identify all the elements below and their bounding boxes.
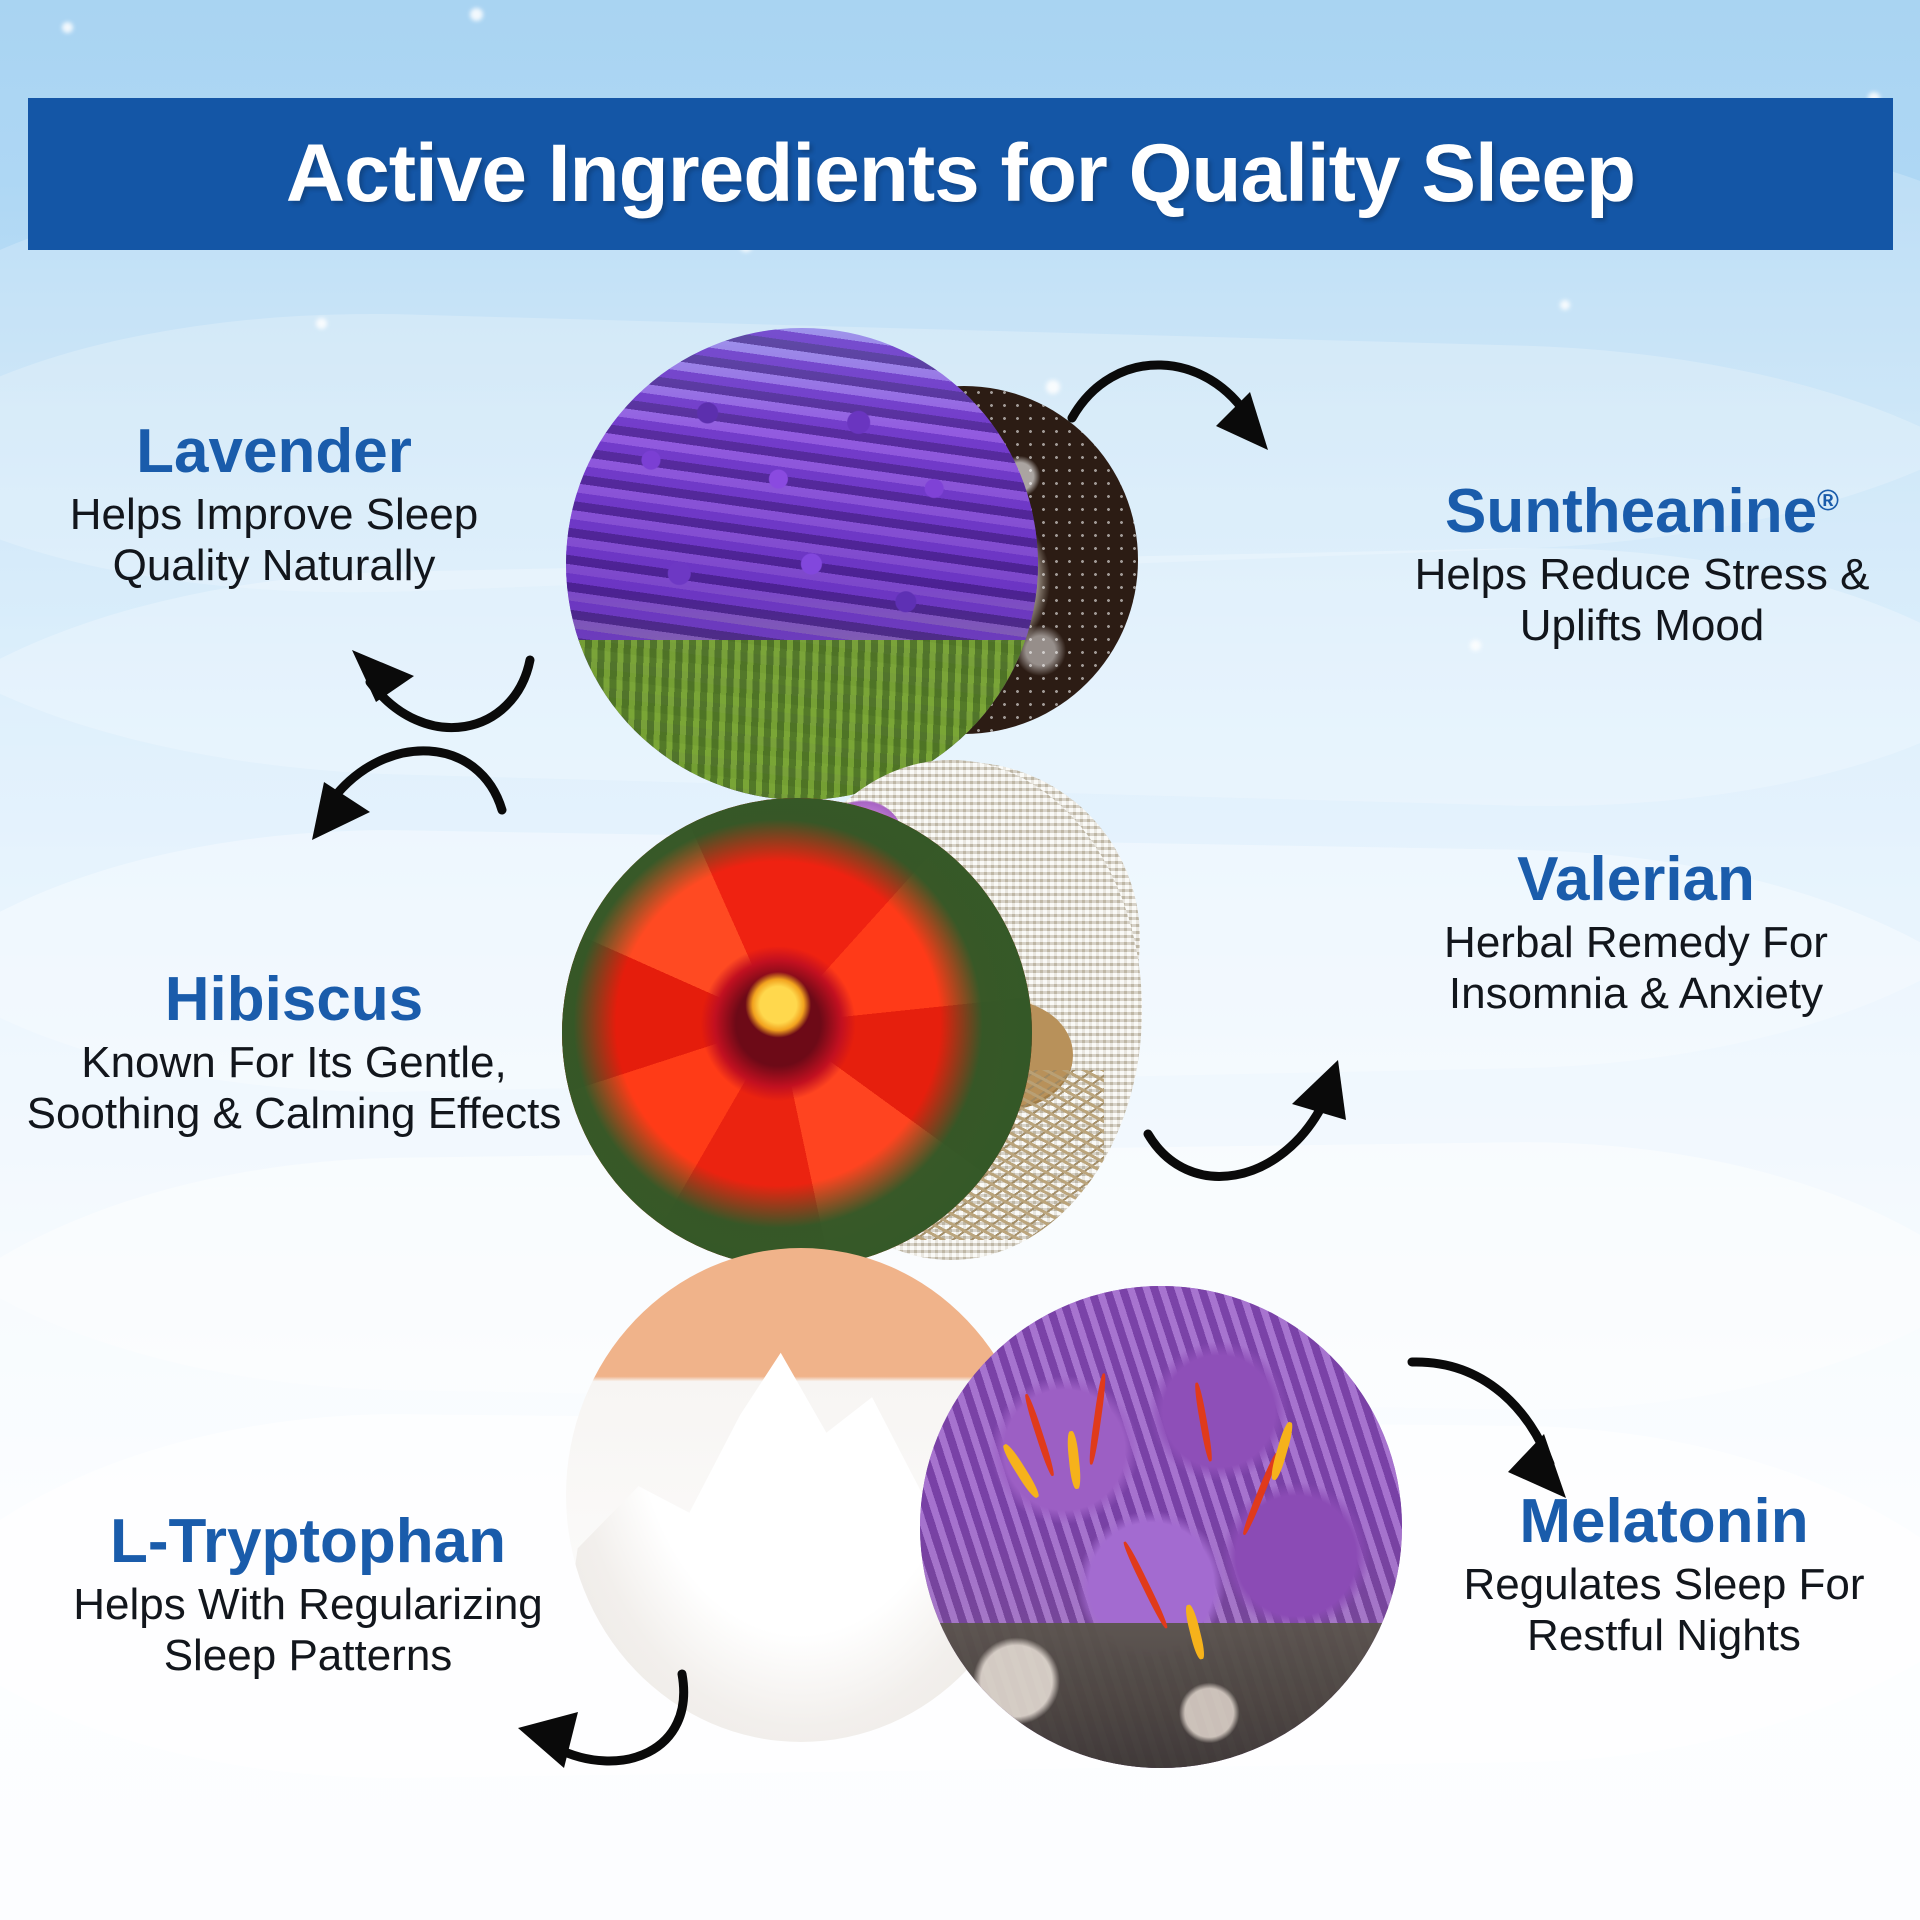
description-line-1: Helps Improve Sleep xyxy=(14,489,534,540)
arrow-to-valerian xyxy=(1130,1036,1360,1222)
sparkle-dot xyxy=(62,22,73,33)
arrow-to-suntheanine xyxy=(1056,334,1286,514)
sparkle-dot xyxy=(316,318,327,329)
description-line-2: Restful Nights xyxy=(1404,1610,1920,1661)
ingredient-description-lavender: Helps Improve Sleep Quality Naturally xyxy=(14,489,534,591)
sparkle-dot xyxy=(470,8,483,21)
ingredient-name-l-tryptophan: L-Tryptophan xyxy=(20,1510,596,1573)
description-line-2: Uplifts Mood xyxy=(1368,600,1916,651)
ingredient-block-suntheanine: Suntheanine® Helps Reduce Stress & Uplif… xyxy=(1368,480,1916,651)
arrow-to-l-tryptophan xyxy=(500,1640,750,1830)
melatonin-saffron-crocus-photo xyxy=(920,1286,1402,1768)
arrow-to-melatonin xyxy=(1398,1324,1628,1514)
ingredient-description-melatonin: Regulates Sleep For Restful Nights xyxy=(1404,1559,1920,1661)
description-line-1: Regulates Sleep For xyxy=(1404,1559,1920,1610)
ingredient-name-suntheanine: Suntheanine® xyxy=(1368,480,1916,543)
title-banner: Active Ingredients for Quality Sleep xyxy=(28,98,1893,250)
lavender-field-photo xyxy=(566,328,1038,800)
ingredient-name-lavender: Lavender xyxy=(14,420,534,483)
page-title: Active Ingredients for Quality Sleep xyxy=(286,127,1635,221)
description-line-1: Known For Its Gentle, xyxy=(0,1037,588,1088)
description-line-2: Quality Naturally xyxy=(14,540,534,591)
arrow-to-hibiscus xyxy=(290,716,530,896)
description-line-1: Helps With Regularizing xyxy=(20,1579,596,1630)
ingredient-block-lavender: Lavender Helps Improve Sleep Quality Nat… xyxy=(14,420,534,591)
ingredient-description-suntheanine: Helps Reduce Stress & Uplifts Mood xyxy=(1368,549,1916,651)
ingredient-description-hibiscus: Known For Its Gentle, Soothing & Calming… xyxy=(0,1037,588,1139)
hibiscus-flower-photo xyxy=(562,798,1032,1268)
ingredient-name-text: Suntheanine xyxy=(1445,477,1817,546)
sparkle-dot xyxy=(1560,300,1570,310)
description-line-1: Herbal Remedy For xyxy=(1358,917,1914,968)
ingredient-block-melatonin: Melatonin Regulates Sleep For Restful Ni… xyxy=(1404,1490,1920,1661)
ingredient-name-hibiscus: Hibiscus xyxy=(0,968,588,1031)
ingredient-description-valerian: Herbal Remedy For Insomnia & Anxiety xyxy=(1358,917,1914,1019)
description-line-1: Helps Reduce Stress & xyxy=(1368,549,1916,600)
registered-trademark-icon: ® xyxy=(1817,484,1839,517)
description-line-2: Soothing & Calming Effects xyxy=(0,1088,588,1139)
ingredient-name-valerian: Valerian xyxy=(1358,848,1914,911)
ingredient-block-valerian: Valerian Herbal Remedy For Insomnia & An… xyxy=(1358,848,1914,1019)
ingredient-block-hibiscus: Hibiscus Known For Its Gentle, Soothing … xyxy=(0,968,588,1139)
description-line-2: Insomnia & Anxiety xyxy=(1358,968,1914,1019)
infographic-page: Active Ingredients for Quality Sleep xyxy=(0,0,1920,1920)
